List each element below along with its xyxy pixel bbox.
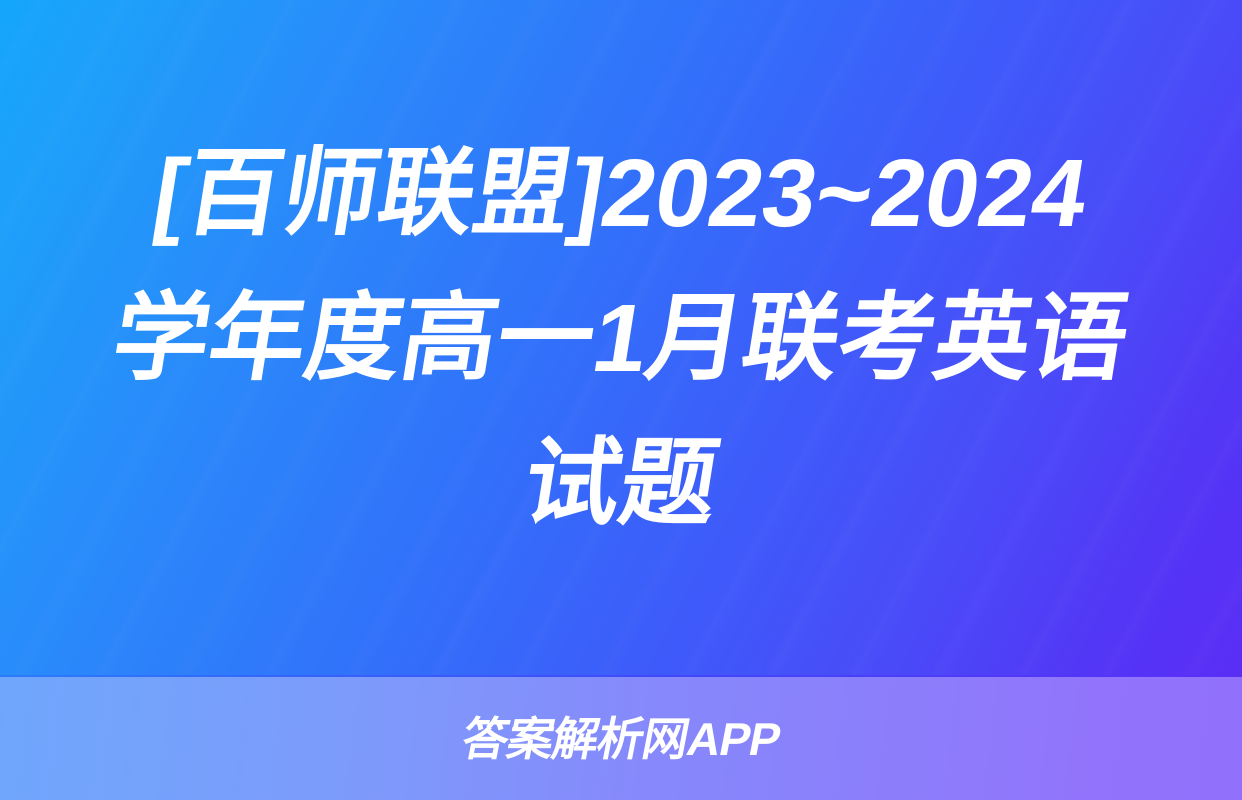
poster-title-block: [百师联盟]2023~2024 学年度高一1月联考英语 试题	[0, 0, 1242, 676]
poster-card: [百师联盟]2023~2024 学年度高一1月联考英语 试题 答案解析网APP	[0, 0, 1242, 800]
watermark-label: 答案解析网APP	[458, 716, 784, 762]
poster-title-line-3: 试题	[514, 411, 729, 556]
watermark-band: 答案解析网APP	[0, 677, 1242, 800]
poster-title-line-1: [百师联盟]2023~2024	[144, 121, 1098, 266]
band-divider	[0, 675, 1242, 677]
poster-title-line-2: 学年度高一1月联考英语	[103, 266, 1139, 411]
